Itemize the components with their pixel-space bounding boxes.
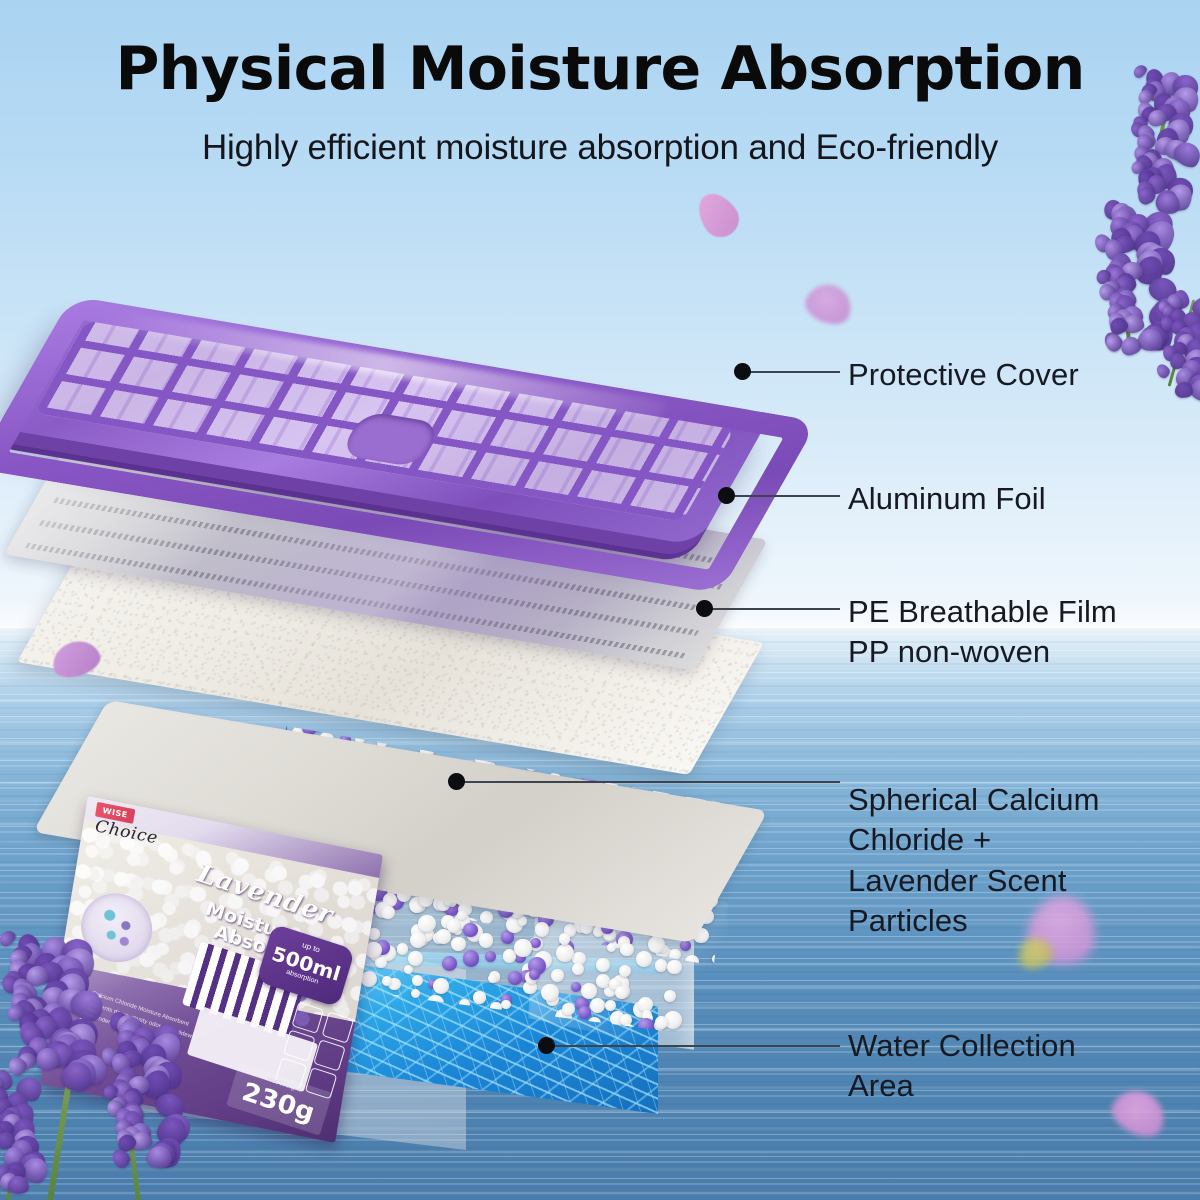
absorbent-bead [615,986,628,999]
callout-aluminum-foil: Aluminum Foil [848,479,1046,519]
absorbent-bead [619,965,631,977]
absorbent-bead [590,998,605,1013]
leader-line-protective-cover [748,371,840,373]
callout-pe-breathable-film: PE Breathable Film PP non-woven [848,592,1117,673]
absorbent-bead [581,983,597,999]
absorbent-bead [436,929,451,944]
absorbent-bead [655,959,667,971]
absorbent-bead [451,937,466,952]
infographic-canvas: Physical Moisture Absorption Highly effi… [0,0,1200,1200]
absorbent-bead [433,978,449,994]
absorbent-bead [596,958,610,972]
absorbent-bead [382,976,392,986]
absorbent-bead [418,915,436,933]
leader-line-calcium-chloride [462,781,840,783]
absorbent-bead [313,720,325,732]
leader-dot-icon-protective-cover [734,363,751,380]
absorbent-bead [541,984,559,1002]
callout-water-collection: Water Collection Area [848,1026,1076,1107]
page-title: Physical Moisture Absorption [0,38,1200,100]
absorbent-bead [375,957,387,969]
absorbent-bead [404,965,413,974]
absorbent-bead [572,963,585,976]
absorbent-bead [578,1006,591,1019]
absorbent-bead [562,1003,574,1015]
absorbent-bead [559,933,571,945]
absorbent-bead [339,719,355,735]
leader-line-pe-film [710,608,840,610]
absorbent-bead [463,950,480,967]
absorbent-bead [508,971,522,985]
absorbent-bead [369,726,384,741]
absorbent-bead [376,729,389,742]
absorbent-bead [571,982,581,992]
care-icon-3 [283,1029,316,1061]
absorbent-bead [397,943,409,955]
lavender-floret [1154,362,1172,380]
absorbent-bead [412,975,423,986]
leader-dot-icon-water-collection [538,1037,555,1054]
absorbent-bead [636,951,652,967]
absorbent-bead [479,933,494,948]
absorbent-bead [546,758,556,768]
absorbent-bead [408,951,423,966]
absorbent-bead [530,938,540,948]
absorbent-bead [607,943,616,952]
lavender-floret [0,928,18,949]
absorbent-bead [664,990,676,1002]
absorbent-bead [381,906,395,920]
leader-dot-icon-calcium-chloride [448,773,465,790]
absorbent-bead [447,736,461,750]
absorbent-bead [667,960,681,974]
lavender-sprig-icon-bottom-left [0,920,234,1200]
absorbent-bead [501,1000,511,1010]
absorbent-bead [596,974,610,988]
absorbent-bead [701,765,710,774]
callout-protective-cover: Protective Cover [848,355,1079,395]
absorbent-bead [529,969,540,980]
absorbent-bead [411,989,420,998]
absorbent-bead [551,969,564,982]
absorbent-bead [655,1016,668,1029]
absorbent-bead [596,764,608,776]
absorbent-bead [485,951,496,962]
lavender-sprig-icon-top-right [1062,62,1200,392]
absorbent-bead [463,923,477,937]
absorbent-bead [442,956,457,971]
absorbent-bead [574,768,584,778]
absorbent-bead [605,1000,616,1011]
absorbent-bead [505,746,522,763]
absorbent-bead [535,922,549,936]
leader-line-aluminum-foil [732,495,840,497]
absorbent-bead [473,991,485,1003]
absorbent-bead [410,932,426,948]
absorbent-bead [361,971,377,987]
absorbent-bead [620,943,634,957]
absorbent-bead [480,749,489,758]
absorbent-bead [514,939,531,956]
absorbent-bead [525,757,539,771]
absorbent-bead [648,936,665,953]
leader-dot-icon-aluminum-foil [718,487,735,504]
leader-dot-icon-pe-film [696,600,713,617]
protective-cover-layer [72,296,772,486]
care-icon-4 [313,1039,346,1071]
page-subtitle: Highly efficient moisture absorption and… [0,128,1200,168]
absorbent-bead [553,759,567,773]
callout-calcium-chloride: Spherical Calcium Chloride + Lavender Sc… [848,780,1100,941]
absorbent-bead [709,771,724,786]
leader-line-water-collection [552,1045,840,1047]
